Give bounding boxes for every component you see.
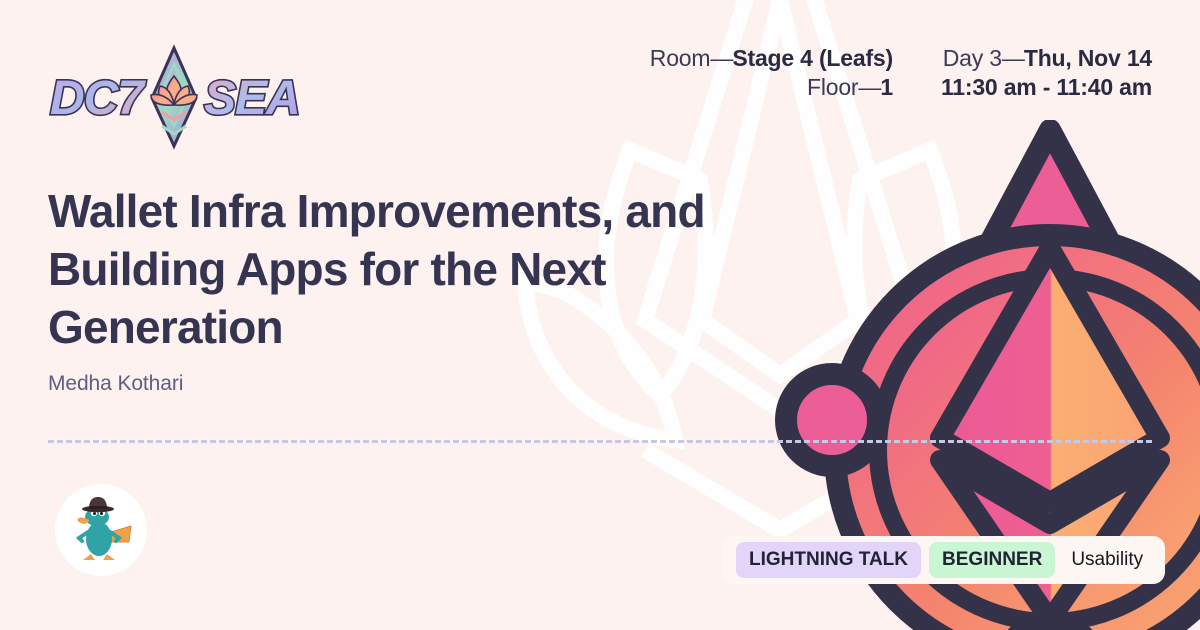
speaker-name: Medha Kothari [48, 372, 183, 396]
svg-text:SEA: SEA [204, 72, 300, 125]
meta-floor-line: Floor—1 [650, 73, 893, 102]
meta-room-line: Room—Stage 4 (Leafs) [650, 44, 893, 73]
floor-value: 1 [880, 74, 893, 100]
perry-platypus-icon [55, 484, 147, 576]
avatar [55, 484, 147, 576]
floor-label: Floor [807, 74, 858, 100]
tag-usability[interactable]: Usability [1063, 542, 1151, 578]
page-title: Wallet Infra Improvements, and Building … [48, 182, 748, 356]
tag-list: LIGHTNING TALK BEGINNER Usability [722, 536, 1165, 584]
tag-beginner[interactable]: BEGINNER [929, 542, 1055, 578]
room-label: Room [650, 45, 711, 71]
room-value: Stage 4 (Leafs) [732, 45, 893, 71]
svg-text:DC7: DC7 [50, 72, 146, 125]
day-value: Thu, Nov 14 [1024, 45, 1152, 71]
meta-time-line: 11:30 am - 11:40 am [941, 73, 1152, 102]
day-label: Day 3 [943, 45, 1002, 71]
room-dash: — [710, 45, 732, 71]
session-card: DC7 SEA Room—Stage 4 (Leafs) Floor—1 [0, 0, 1200, 630]
day-dash: — [1002, 45, 1024, 71]
tag-lightning-talk[interactable]: LIGHTNING TALK [736, 542, 921, 578]
divider [48, 440, 1152, 443]
dc7-sea-logo: DC7 SEA [48, 42, 300, 154]
meta-day-line: Day 3—Thu, Nov 14 [941, 44, 1152, 73]
session-meta: Room—Stage 4 (Leafs) Floor—1 Day 3—Thu, … [650, 44, 1152, 102]
meta-day-time: Day 3—Thu, Nov 14 11:30 am - 11:40 am [941, 44, 1152, 102]
floor-dash: — [858, 74, 880, 100]
meta-room-floor: Room—Stage 4 (Leafs) Floor—1 [650, 44, 893, 102]
